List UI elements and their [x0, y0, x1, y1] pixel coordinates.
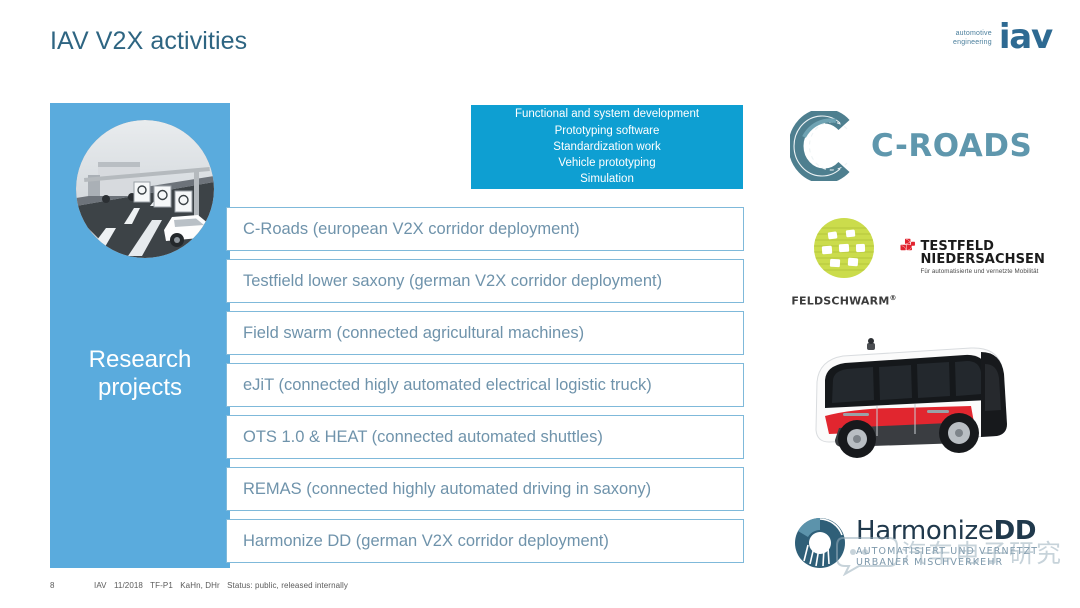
project-row[interactable]: C-Roads (european V2X corridor deploymen…: [226, 207, 744, 251]
project-row[interactable]: Harmonize DD (german V2X corridor deploy…: [226, 519, 744, 563]
footer-department: TF-P1: [150, 581, 173, 590]
harmonizedd-text-block: HarmonizeDD AUTOMATISIERT UND VERNETZT U…: [856, 518, 1038, 568]
iav-logo: automotive engineering iav: [953, 24, 1052, 52]
croads-wordmark: C-ROADS: [871, 128, 1032, 164]
autonomous-shuttle-photo: [795, 330, 1040, 470]
page-number: 8: [50, 581, 94, 590]
iav-claim-line2: engineering: [953, 38, 992, 47]
iav-claim: automotive engineering: [953, 29, 992, 47]
page-title: IAV V2X activities: [50, 27, 247, 56]
project-row[interactable]: Testfield lower saxony (german V2X corri…: [226, 259, 744, 303]
project-row[interactable]: eJiT (connected higly automated electric…: [226, 363, 744, 407]
project-row[interactable]: OTS 1.0 & HEAT (connected automated shut…: [226, 415, 744, 459]
capability-line: Vehicle prototyping: [558, 155, 655, 171]
capability-line: Prototyping software: [555, 123, 660, 139]
capability-line: Functional and system development: [515, 106, 699, 122]
footer-authors: KaHn, DHr: [180, 581, 220, 590]
testfeld-niedersachsen-logo: TESTFELD NIEDERSACHSEN Für automatisiert…: [900, 215, 1045, 277]
shuttle-bus-illustration: [795, 330, 1040, 470]
highway-scene-illustration: [76, 120, 214, 258]
testfeld-text-block: TESTFELD NIEDERSACHSEN Für automatisiert…: [920, 240, 1045, 278]
testfeld-mark-icon: [900, 215, 916, 277]
research-projects-label: Research projects: [50, 346, 230, 402]
project-list: C-Roads (european V2X corridor deploymen…: [226, 207, 744, 563]
testfeld-subtitle: Für automatisierte und vernetzte Mobilit…: [920, 268, 1045, 275]
capability-line: Simulation: [580, 171, 634, 187]
harmonizedd-word-bold: DD: [994, 516, 1037, 546]
feldschwarm-sphere-icon: [808, 214, 880, 286]
footer-date: 11/2018: [114, 581, 143, 590]
harmonizedd-wordmark: HarmonizeDD: [856, 518, 1038, 544]
iav-wordmark: iav: [999, 24, 1052, 52]
footer-meta: IAV 11/2018 TF-P1 KaHn, DHr Status: publ…: [94, 581, 353, 590]
footer-company: IAV: [94, 581, 107, 590]
croads-mark-icon: [790, 111, 858, 181]
feldschwarm-wordmark: FELDSCHWARM®: [789, 294, 899, 308]
research-label-line2: projects: [50, 374, 230, 402]
highway-gantry-photo: [76, 120, 214, 258]
harmonizedd-subtitle2: URBANER MISCHVERKEHR: [856, 557, 1038, 568]
harmonizedd-subtitle1: AUTOMATISIERT UND VERNETZT: [856, 546, 1038, 557]
footer-status: Status: public, released internally: [227, 581, 348, 590]
feldschwarm-trademark: ®: [889, 294, 896, 302]
harmonizedd-mark-icon: [792, 515, 848, 571]
iav-claim-line1: automotive: [956, 29, 992, 38]
research-label-line1: Research: [50, 346, 230, 374]
testfeld-line1: TESTFELD: [920, 240, 1045, 253]
feldschwarm-logo: FELDSCHWARM®: [789, 214, 899, 308]
harmonizedd-logo: HarmonizeDD AUTOMATISIERT UND VERNETZT U…: [792, 512, 1042, 574]
testfeld-line2: NIEDERSACHSEN: [920, 253, 1045, 266]
harmonizedd-word-light: Harmonize: [856, 516, 994, 546]
capability-line: Standardization work: [553, 139, 660, 155]
project-row[interactable]: Field swarm (connected agricultural mach…: [226, 311, 744, 355]
capabilities-box: Functional and system development Protot…: [471, 105, 743, 189]
feldschwarm-name: FELDSCHWARM: [791, 295, 889, 308]
project-row[interactable]: REMAS (connected highly automated drivin…: [226, 467, 744, 511]
slide-footer: 8 IAV 11/2018 TF-P1 KaHn, DHr Status: pu…: [50, 581, 353, 590]
croads-logo: C-ROADS: [790, 108, 1040, 184]
